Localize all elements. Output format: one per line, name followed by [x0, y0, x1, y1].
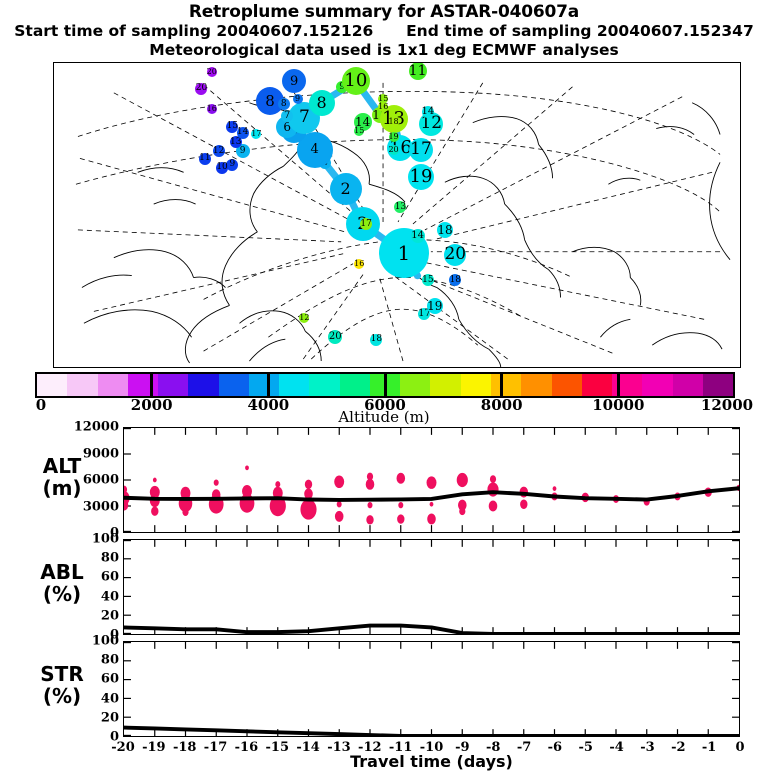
colorbar-segment-4 — [158, 374, 188, 396]
alt-bubble — [490, 475, 496, 483]
start-time-label: Start time of sampling 20040607.152126 — [14, 22, 373, 40]
colorbar-segment-14 — [461, 374, 491, 396]
alt-bubble — [397, 473, 406, 484]
y-tick-label-20: 20 — [57, 608, 119, 623]
map-bubble-day-10: 10 — [216, 162, 228, 174]
alt-bubble — [368, 502, 373, 508]
alt-bubble — [427, 476, 437, 489]
colorbar-segment-22 — [703, 374, 733, 396]
alt-bubble — [459, 507, 465, 515]
colorbar-divider — [267, 372, 270, 398]
map-bubble-label: 18 — [450, 276, 461, 285]
map-bubble-label: 15 — [422, 276, 433, 285]
colorbar-segment-7 — [249, 374, 279, 396]
map-bubble-label: 11 — [199, 154, 210, 163]
map-bubble-label: 14 — [237, 128, 248, 137]
map-bubble-day-20: 20 — [195, 83, 207, 95]
map-bubble-label: 8 — [316, 95, 326, 111]
alt-bubble — [397, 514, 404, 523]
map-bubble-label: 16 — [354, 260, 364, 268]
map-bubble-label: 20 — [207, 68, 217, 76]
map-bubble-label: 19 — [388, 133, 398, 141]
map-bubble-day-18: 18 — [449, 274, 461, 286]
map-bubble-label: 9 — [229, 160, 235, 169]
map-bubble-label: 18 — [388, 118, 398, 126]
alt-bubble — [337, 501, 342, 507]
y-tick-label-9000: 9000 — [57, 446, 119, 461]
colorbar-divider — [384, 372, 387, 398]
map-bubble-day-11: 11 — [199, 153, 211, 165]
map-bubble-label: 12 — [213, 147, 224, 156]
map-bubble-label: 20 — [388, 146, 398, 154]
map-bubble-label: 16 — [378, 103, 388, 111]
alt-bubble — [153, 478, 157, 483]
map-bubble-day-17: 17 — [409, 138, 433, 162]
map-bubble-day-19: 19 — [389, 132, 399, 142]
retroplume-map-panel: 1223456778889910111112131314141415151516… — [53, 62, 741, 368]
map-bubble-day-13: 13 — [394, 201, 406, 213]
map-bubble-day-15: 15 — [354, 126, 364, 136]
map-bubble-day-14: 14 — [422, 106, 434, 118]
colorbar-segment-3 — [128, 374, 158, 396]
map-bubble-label: 20 — [444, 246, 466, 263]
map-bubble-day-14: 14 — [411, 229, 425, 243]
alt-bubble — [487, 482, 498, 496]
alt-bubble — [245, 465, 249, 470]
map-bubble-label: 18 — [371, 335, 382, 344]
y-tick-label-40: 40 — [57, 589, 119, 604]
map-bubble-day-16: 16 — [207, 104, 217, 114]
y-tick-label-12000: 12000 — [57, 420, 119, 435]
alt-bubble — [427, 514, 436, 525]
map-bubble-day-19: 19 — [408, 164, 434, 190]
colorbar-segment-13 — [430, 374, 460, 396]
map-bubble-day-7: 7 — [281, 110, 293, 122]
map-bubble-label: 8 — [265, 94, 275, 109]
abl-plot-area — [124, 540, 739, 634]
alt-bubble — [398, 502, 403, 508]
map-bubble-label: 19 — [427, 300, 442, 312]
map-bubble-label: 12 — [420, 115, 442, 132]
map-bubble-label: 12 — [299, 314, 309, 322]
map-bubble-day-9: 9 — [282, 69, 306, 93]
map-bubble-day-15: 15 — [226, 121, 238, 133]
sampling-time-row: Start time of sampling 20040607.152126 E… — [0, 22, 768, 41]
map-bubble-day-9: 9 — [293, 94, 303, 104]
alt-plot-panel — [123, 427, 740, 533]
map-bubble-label: 7 — [284, 111, 290, 121]
str-plot-area — [124, 642, 739, 736]
alt-bubble — [520, 500, 527, 509]
map-bubble-label: 14 — [411, 231, 424, 241]
map-bubble-label: 8 — [281, 100, 287, 109]
map-bubble-label: 7 — [299, 109, 310, 126]
map-bubble-label: 13 — [230, 138, 241, 147]
map-bubble-day-11: 11 — [409, 62, 427, 80]
abl-plot-panel — [123, 539, 740, 635]
map-bubble-label: 9 — [290, 75, 298, 88]
y-tick-label-80: 80 — [57, 653, 119, 668]
colorbar-segment-18 — [582, 374, 612, 396]
alt-bubble — [182, 508, 188, 516]
colorbar-divider — [617, 372, 620, 398]
y-tick-label-40: 40 — [57, 691, 119, 706]
map-bubble-label: 9 — [295, 95, 300, 103]
map-bubble-day-9: 9 — [226, 159, 238, 171]
map-bubble-day-16: 16 — [354, 259, 364, 269]
y-tick-label-60: 60 — [57, 570, 119, 585]
alt-bubble — [275, 481, 280, 487]
colorbar-divider — [150, 372, 153, 398]
map-bubble-label: 16 — [207, 105, 217, 113]
map-bubble-day-17: 17 — [251, 129, 261, 139]
str-plot-panel — [123, 641, 740, 737]
y-tick-label-3000: 3000 — [57, 499, 119, 514]
map-bubble-label: 1 — [397, 243, 410, 263]
alt-bubble — [214, 480, 219, 486]
map-bubble-label: 11 — [409, 64, 427, 78]
map-bubble-label: 14 — [422, 107, 435, 117]
map-bubble-label: 17 — [251, 130, 261, 138]
map-bubble-day-8: 8 — [278, 98, 290, 110]
colorbar-segment-20 — [642, 374, 672, 396]
map-bubble-day-12: 12 — [299, 313, 309, 323]
map-bubble-day-20: 20 — [328, 330, 342, 344]
map-bubble-label: 20 — [329, 332, 342, 342]
colorbar-segment-9 — [309, 374, 339, 396]
figure-titles: Retroplume summary for ASTAR-040607a Sta… — [0, 0, 768, 60]
map-bubble-label: 10 — [216, 163, 227, 172]
map-bubble-day-20: 20 — [444, 244, 466, 266]
colorbar-segment-8 — [279, 374, 309, 396]
map-bubble-day-15: 15 — [422, 274, 434, 286]
map-bubble-day-18: 18 — [370, 334, 382, 346]
y-tick-label-80: 80 — [57, 551, 119, 566]
colorbar-divider — [500, 372, 503, 398]
alt-plot-area — [124, 428, 739, 532]
map-bubble-label: 15 — [354, 127, 364, 135]
map-bubble-label: 17 — [360, 220, 371, 229]
colorbar-segment-10 — [340, 374, 370, 396]
alt-bubble — [366, 479, 375, 490]
colorbar-segment-15 — [491, 374, 521, 396]
map-bubble-day-18: 18 — [437, 222, 453, 238]
alt-bubble — [305, 480, 312, 489]
y-tick-label-20: 20 — [57, 710, 119, 725]
y-tick-label-100: 100 — [57, 634, 119, 649]
colorbar-segment-5 — [188, 374, 218, 396]
x-axis-title: Travel time (days) — [123, 752, 740, 771]
map-bubble-day-16: 16 — [378, 102, 388, 112]
map-bubble-label: 15 — [227, 122, 238, 131]
colorbar-segment-6 — [219, 374, 249, 396]
map-bubble-day-18: 18 — [389, 117, 399, 127]
colorbar-segment-0 — [37, 374, 67, 396]
map-bubble-day-17: 17 — [360, 218, 372, 230]
alt-bubble — [151, 506, 158, 515]
map-bubble-day-20: 20 — [389, 145, 399, 155]
map-bubble-day-12: 12 — [213, 145, 225, 157]
map-bubble-day-19: 19 — [427, 298, 443, 314]
colorbar-segment-17 — [552, 374, 582, 396]
map-bubble-day-10: 10 — [342, 67, 370, 95]
map-bubble-label: 17 — [410, 141, 432, 158]
map-bubble-label: 13 — [395, 203, 406, 212]
colorbar-segment-12 — [400, 374, 430, 396]
page-title: Retroplume summary for ASTAR-040607a — [0, 2, 768, 22]
colorbar-segment-16 — [521, 374, 551, 396]
y-tick-label-6000: 6000 — [57, 473, 119, 488]
alt-bubble — [334, 475, 344, 488]
map-bubble-day-14: 14 — [237, 127, 249, 139]
alt-bubble — [489, 501, 498, 512]
colorbar-segment-21 — [673, 374, 703, 396]
map-bubble-day-20: 20 — [207, 67, 217, 77]
map-bubble-label: 18 — [437, 224, 452, 236]
y-tick-label-60: 60 — [57, 672, 119, 687]
end-time-label: End time of sampling 20040607.152347 — [406, 22, 754, 40]
y-tick-label-100: 100 — [57, 532, 119, 547]
alt-bubble — [366, 515, 373, 524]
alt-bubble — [457, 473, 468, 487]
colorbar-segment-2 — [98, 374, 128, 396]
alt-bubble — [300, 499, 316, 519]
map-bubble-label: 2 — [340, 181, 350, 197]
alt-bubble — [430, 502, 434, 507]
map-bubble-day-2: 2 — [330, 173, 362, 205]
met-data-label: Meteorological data used is 1x1 deg ECMW… — [0, 41, 768, 60]
map-bubble-day-8: 8 — [309, 90, 335, 116]
map-bubble-label: 20 — [196, 84, 207, 93]
map-bubble-label: 19 — [410, 168, 433, 186]
alt-bubble — [553, 486, 557, 491]
colorbar-segment-1 — [67, 374, 97, 396]
alt-bubble — [335, 511, 344, 522]
map-bubble-label: 9 — [240, 147, 246, 156]
map-bubble-label: 10 — [344, 72, 367, 90]
map-bubble-label: 4 — [311, 143, 319, 156]
